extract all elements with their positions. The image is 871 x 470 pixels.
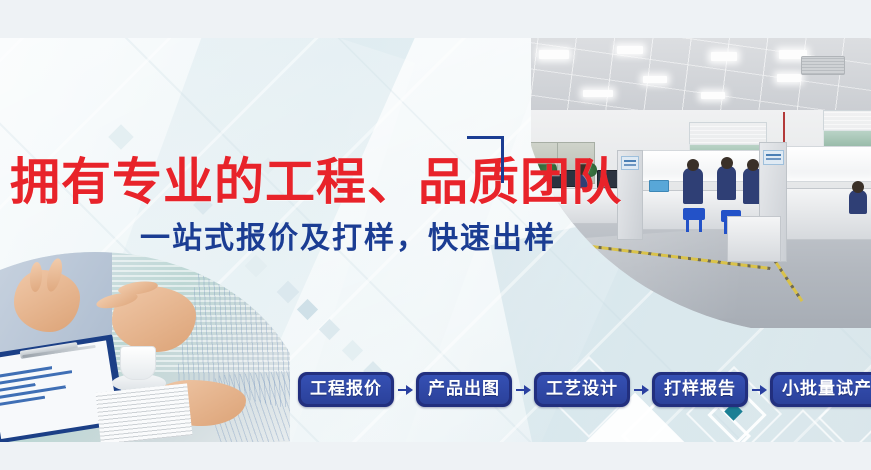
banner-page: 拥有专业的工程、品质团队 一站式报价及打样，快速出样 工程报价 产品出图 工艺设… xyxy=(0,0,871,470)
coffee-cup xyxy=(120,346,156,380)
hero-banner: 拥有专业的工程、品质团队 一站式报价及打样，快速出样 工程报价 产品出图 工艺设… xyxy=(0,38,871,442)
process-step-5[interactable]: 小批量试产 xyxy=(770,372,871,407)
ceiling-light xyxy=(583,90,613,97)
process-step-label: 工程报价 xyxy=(301,375,391,404)
air-vent xyxy=(801,56,845,75)
worker xyxy=(849,190,867,214)
process-step-label: 工艺设计 xyxy=(537,375,627,404)
page-bottom-strip xyxy=(0,442,871,470)
arrow-right-icon xyxy=(396,380,414,400)
ceiling-light xyxy=(777,74,801,82)
worker xyxy=(683,168,703,204)
ceiling-light xyxy=(539,50,569,59)
document-sheet xyxy=(96,383,193,442)
stool xyxy=(683,208,705,220)
arrow-right-icon xyxy=(632,380,650,400)
process-step-label: 打样报告 xyxy=(655,375,745,404)
finger xyxy=(0,242,25,260)
process-step-1[interactable]: 工程报价 xyxy=(298,372,394,407)
ceiling-light xyxy=(711,52,737,61)
diamond-accent xyxy=(319,319,340,340)
process-step-4[interactable]: 打样报告 xyxy=(652,372,748,407)
diamond-accent xyxy=(342,340,363,361)
ceiling-light xyxy=(617,46,643,54)
process-step-3[interactable]: 工艺设计 xyxy=(534,372,630,407)
process-step-label: 小批量试产 xyxy=(773,375,871,404)
process-flow: 工程报价 产品出图 工艺设计 打样报告 小批量试产 批量量产 xyxy=(298,372,871,407)
page-subtitle: 一站式报价及打样，快速出样 xyxy=(140,221,556,257)
diamond-outline xyxy=(759,409,847,442)
arrow-right-icon xyxy=(750,380,768,400)
workbench-hood xyxy=(783,146,871,182)
page-title: 拥有专业的工程、品质团队 xyxy=(10,154,622,210)
page-top-strip xyxy=(0,0,871,38)
diamond-accent xyxy=(108,124,133,149)
process-step-label: 产品出图 xyxy=(419,375,509,404)
parts-bin xyxy=(649,180,669,192)
partition-label xyxy=(621,156,639,170)
partition-label xyxy=(763,150,784,165)
diamond-accent xyxy=(297,299,318,320)
corner-bracket-decoration xyxy=(467,136,504,183)
ceiling-light xyxy=(643,76,667,83)
desk xyxy=(727,216,781,262)
arrow-right-icon xyxy=(514,380,532,400)
process-step-2[interactable]: 产品出图 xyxy=(416,372,512,407)
worker xyxy=(717,166,736,200)
ceiling-light xyxy=(701,92,725,99)
